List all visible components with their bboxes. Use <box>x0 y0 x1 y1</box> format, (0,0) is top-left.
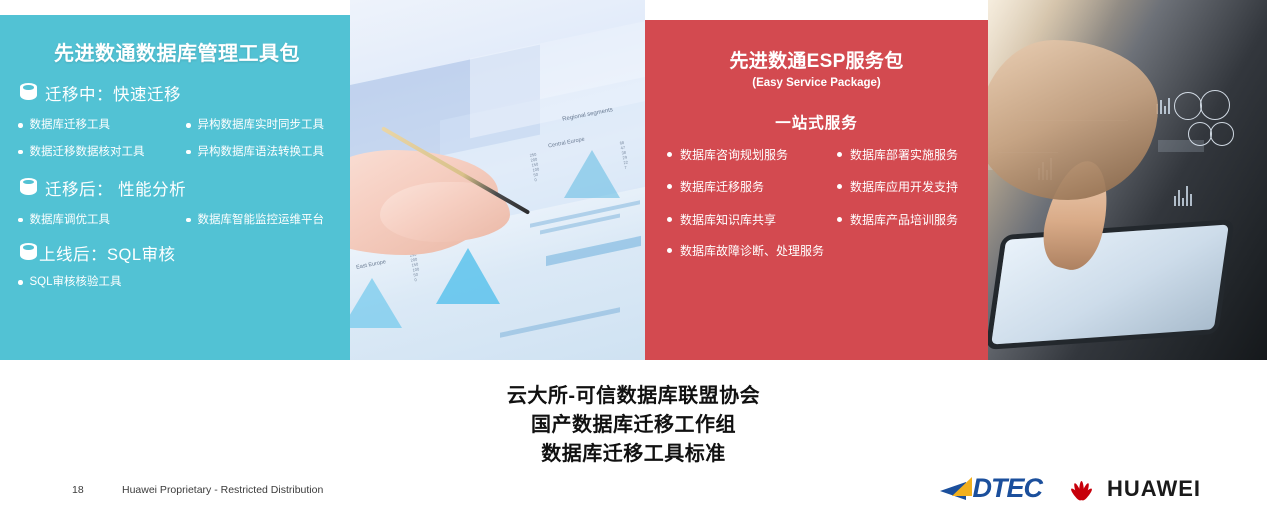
footer: 18 Huawei Proprietary - Restricted Distr… <box>0 481 1267 510</box>
list-item-label: 数据库迁移工具 <box>30 119 111 133</box>
list-item: 数据库迁移服务 <box>667 180 837 194</box>
database-icon <box>20 83 37 103</box>
huawei-logo: HUAWEI <box>1064 476 1201 502</box>
list-item-label: 数据库知识库共享 <box>680 213 776 227</box>
caption-block: 云大所-可信数据库联盟协会 国产数据库迁移工作组 数据库迁移工具标准 <box>0 382 1267 469</box>
list-item: 数据库迁移工具 <box>18 119 186 133</box>
banner-strip: 先进数通数据库管理工具包 迁移中：快速迁移 数据库迁移工具 异构数据库实时同步工… <box>0 15 1267 360</box>
slide-root: 先进数通数据库管理工具包 迁移中：快速迁移 数据库迁移工具 异构数据库实时同步工… <box>0 0 1267 510</box>
huawei-logo-text: HUAWEI <box>1107 476 1201 502</box>
list-item: 数据库应用开发支持 <box>837 180 987 194</box>
bullet-dot-icon <box>186 123 191 128</box>
list-item-label: 数据库产品培训服务 <box>850 213 958 227</box>
database-icon <box>20 243 37 263</box>
list-item-label: 异构数据库语法转换工具 <box>198 146 325 160</box>
photo-decoration <box>988 0 1267 360</box>
bullet-dot-icon <box>18 150 23 155</box>
photo-decoration: Regional segments Central Europe West Eu… <box>350 0 645 360</box>
list-item-label: 数据库部署实施服务 <box>850 148 958 162</box>
caption-line-2: 国产数据库迁移工作组 <box>0 411 1267 440</box>
bullet-dot-icon <box>186 150 191 155</box>
dtec-arrow-icon <box>940 476 978 502</box>
teal-section-label: 迁移中：快速迁移 <box>45 81 181 105</box>
teal-bullet-group-3: SQL审核核验工具 <box>18 276 340 290</box>
teal-section-after-migration: 迁移后： 性能分析 <box>20 176 340 200</box>
list-item: 数据库调优工具 <box>18 214 186 228</box>
red-panel: 先进数通ESP服务包 (Easy Service Package) 一站式服务 … <box>645 20 988 360</box>
bullet-dot-icon <box>18 280 23 285</box>
list-item: 异构数据库实时同步工具 <box>186 119 354 133</box>
red-panel-title: 先进数通ESP服务包 <box>657 46 976 73</box>
bullet-dot-icon <box>18 123 23 128</box>
teal-section-label: 上线后：SQL审核 <box>39 241 176 265</box>
red-panel-midtitle: 一站式服务 <box>657 111 976 133</box>
bullet-dot-icon <box>837 152 842 157</box>
red-panel-subtitle: (Easy Service Package) <box>657 77 976 89</box>
photo-analytics-report: Regional segments Central Europe West Eu… <box>350 0 645 360</box>
list-item: 数据库产品培训服务 <box>837 213 987 227</box>
teal-bullet-group-2: 数据库调优工具 数据库智能监控运维平台 <box>18 214 340 228</box>
bullet-dot-icon <box>18 218 23 223</box>
bullet-dot-icon <box>186 218 191 223</box>
list-item: 数据库智能监控运维平台 <box>186 214 354 228</box>
teal-section-migrating: 迁移中：快速迁移 <box>20 81 340 105</box>
red-bullet-grid: 数据库咨询规划服务 数据库部署实施服务 数据库迁移服务 数据库应用开发支持 数据… <box>667 148 976 227</box>
list-item: 异构数据库语法转换工具 <box>186 146 354 160</box>
teal-panel-title: 先进数通数据库管理工具包 <box>14 43 340 65</box>
dtec-logo: DTEC <box>940 473 1043 504</box>
list-item: 数据库咨询规划服务 <box>667 148 837 162</box>
bullet-dot-icon <box>837 184 842 189</box>
huawei-flower-icon <box>1064 477 1098 501</box>
bullet-dot-icon <box>837 217 842 222</box>
list-item-label: SQL审核核验工具 <box>30 276 122 290</box>
teal-bullet-group-1: 数据库迁移工具 异构数据库实时同步工具 数据迁移数据核对工具 异构数据库语法转换… <box>18 119 340 160</box>
bullet-dot-icon <box>667 217 672 222</box>
list-item-label: 数据库故障诊断、处理服务 <box>680 244 824 258</box>
list-item-label: 异构数据库实时同步工具 <box>198 119 325 133</box>
bullet-dot-icon <box>667 184 672 189</box>
footer-logos: DTEC HUAWEI <box>940 473 1202 504</box>
caption-line-1: 云大所-可信数据库联盟协会 <box>0 382 1267 411</box>
confidentiality-notice: Huawei Proprietary - Restricted Distribu… <box>122 484 323 496</box>
page-number: 18 <box>72 484 84 496</box>
list-item-label: 数据库应用开发支持 <box>850 180 958 194</box>
list-item-label: 数据库智能监控运维平台 <box>198 214 325 228</box>
list-item-label: 数据迁移数据核对工具 <box>30 146 145 160</box>
list-item-label: 数据库调优工具 <box>30 214 111 228</box>
list-item: 数据迁移数据核对工具 <box>18 146 186 160</box>
photo-tablet-touch <box>988 0 1267 360</box>
list-item: SQL审核核验工具 <box>18 276 340 290</box>
list-item-label: 数据库迁移服务 <box>680 180 764 194</box>
bullet-dot-icon <box>667 248 672 253</box>
caption-line-3: 数据库迁移工具标准 <box>0 440 1267 469</box>
teal-section-after-golive: 上线后：SQL审核 <box>20 241 340 265</box>
teal-section-label: 迁移后： 性能分析 <box>45 176 186 200</box>
list-item: 数据库部署实施服务 <box>837 148 987 162</box>
dtec-logo-text: DTEC <box>973 473 1043 504</box>
teal-panel: 先进数通数据库管理工具包 迁移中：快速迁移 数据库迁移工具 异构数据库实时同步工… <box>0 15 350 360</box>
bullet-dot-icon <box>667 152 672 157</box>
database-icon <box>20 178 37 198</box>
list-item-label: 数据库咨询规划服务 <box>680 148 788 162</box>
list-item: 数据库故障诊断、处理服务 <box>667 244 976 258</box>
list-item: 数据库知识库共享 <box>667 213 837 227</box>
red-bullet-full-width: 数据库故障诊断、处理服务 <box>667 244 976 258</box>
